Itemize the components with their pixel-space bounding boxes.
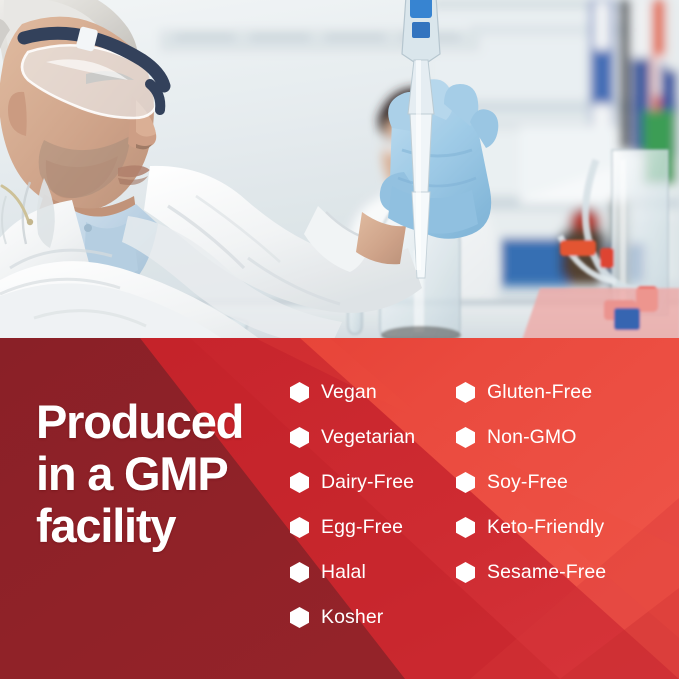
feature-label: Egg-Free xyxy=(321,518,403,538)
list-item: Vegan xyxy=(290,370,415,415)
feature-label: Kosher xyxy=(321,608,383,628)
feature-label: Vegan xyxy=(321,383,377,403)
headline-line-1: Produced xyxy=(36,396,286,448)
hexagon-bullet-icon xyxy=(290,427,309,448)
headline-line-2: in a GMP xyxy=(36,448,286,500)
list-item: Gluten-Free xyxy=(456,370,606,415)
list-item: Soy-Free xyxy=(456,460,606,505)
list-item: Dairy-Free xyxy=(290,460,415,505)
hexagon-bullet-icon xyxy=(456,562,475,583)
hexagon-bullet-icon xyxy=(290,517,309,538)
headline-line-3: facility xyxy=(36,500,286,552)
feature-label: Halal xyxy=(321,563,366,583)
feature-label: Gluten-Free xyxy=(487,383,592,403)
hexagon-bullet-icon xyxy=(456,517,475,538)
list-item: Sesame-Free xyxy=(456,550,606,595)
hexagon-bullet-icon xyxy=(456,382,475,403)
feature-label: Non-GMO xyxy=(487,428,577,448)
laboratory-photo xyxy=(0,0,679,345)
hexagon-bullet-icon xyxy=(456,427,475,448)
laboratory-photo-illustration xyxy=(0,0,679,345)
hexagon-bullet-icon xyxy=(290,472,309,493)
feature-label: Dairy-Free xyxy=(321,473,414,493)
list-item: Kosher xyxy=(290,595,415,640)
page-title: Produced in a GMP facility xyxy=(36,396,286,552)
list-item: Egg-Free xyxy=(290,505,415,550)
product-infographic-canvas: Produced in a GMP facility Vegan Vegetar… xyxy=(0,0,679,679)
list-item: Keto-Friendly xyxy=(456,505,606,550)
hexagon-bullet-icon xyxy=(456,472,475,493)
feature-label: Keto-Friendly xyxy=(487,518,604,538)
hexagon-bullet-icon xyxy=(290,607,309,628)
list-item: Vegetarian xyxy=(290,415,415,460)
feature-label: Soy-Free xyxy=(487,473,568,493)
feature-label: Sesame-Free xyxy=(487,563,606,583)
list-item: Halal xyxy=(290,550,415,595)
list-item: Non-GMO xyxy=(456,415,606,460)
red-claims-banner: Produced in a GMP facility Vegan Vegetar… xyxy=(0,338,679,679)
feature-list-left: Vegan Vegetarian Dairy-Free Egg-Free Hal… xyxy=(290,370,415,640)
hexagon-bullet-icon xyxy=(290,382,309,403)
hexagon-bullet-icon xyxy=(290,562,309,583)
feature-list-right: Gluten-Free Non-GMO Soy-Free Keto-Friend… xyxy=(456,370,606,595)
feature-label: Vegetarian xyxy=(321,428,415,448)
